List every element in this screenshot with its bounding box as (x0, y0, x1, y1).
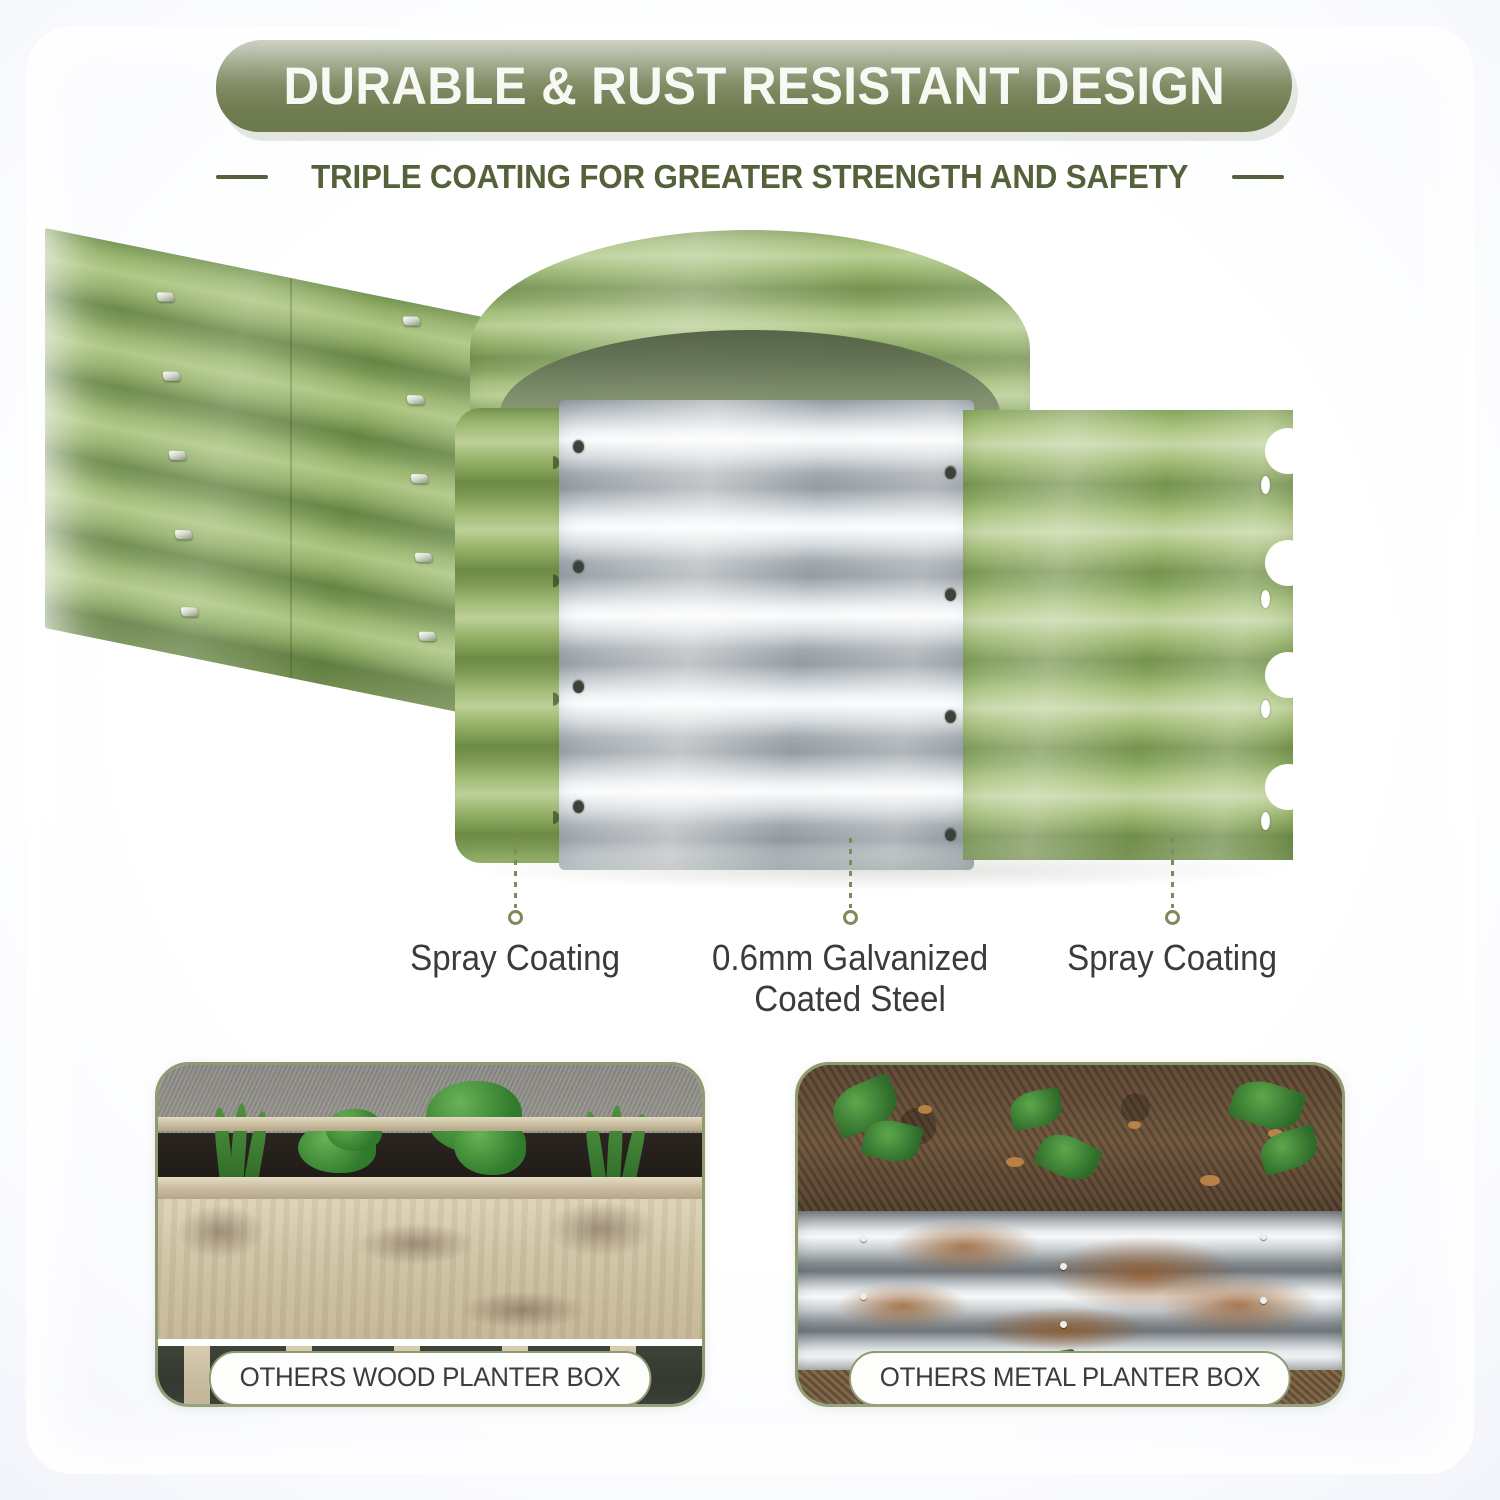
rivet-icon (1060, 1263, 1067, 1270)
wood-leg (184, 1346, 210, 1404)
leader-line (514, 838, 517, 908)
leader-line (1171, 838, 1174, 908)
punch-hole-icon (573, 800, 584, 813)
bed-front-band (455, 400, 1295, 900)
callout-spray-coating-right: Spray Coating (1055, 838, 1290, 978)
punch-hole-icon (573, 680, 584, 693)
mulch-speck (1128, 1121, 1141, 1129)
scallop-cut-icon (1265, 540, 1311, 586)
dash-right-icon (1232, 175, 1284, 179)
callout-label: Spray Coating (1068, 937, 1278, 978)
comparison-label-metal: OTHERS METAL PLANTER BOX (849, 1351, 1291, 1406)
callout-label: Spray Coating (411, 937, 621, 978)
rivet-icon (406, 395, 424, 405)
wood-stain (546, 1201, 656, 1257)
punch-hole-icon (945, 466, 956, 479)
page-subtitle: TRIPLE COATING FOR GREATER STRENGTH AND … (311, 158, 1188, 196)
punch-hole-icon (945, 710, 956, 723)
callout-spray-coating-left: Spray Coating (398, 838, 633, 978)
rivet-icon (860, 1293, 867, 1300)
wood-stain (176, 1205, 266, 1259)
spray-coating-segment-right (963, 410, 1293, 860)
wood-front-face (158, 1199, 702, 1339)
punch-hole-icon (573, 560, 584, 573)
mulch-speck (1006, 1157, 1024, 1167)
rivet-icon (174, 530, 192, 540)
wood-top-rail (158, 1177, 702, 1199)
steel-gloss (559, 400, 974, 870)
mulch-speck (1200, 1175, 1220, 1186)
rivet-icon (1260, 1297, 1267, 1304)
rivet-icon (180, 607, 198, 617)
rivet-icon (414, 553, 432, 563)
wood-top-rail (158, 1117, 702, 1131)
scallop-cut-icon (1265, 652, 1311, 698)
rust-stain (1158, 1275, 1318, 1335)
page-title: DURABLE & RUST RESISTANT DESIGN (283, 60, 1225, 113)
rust-stain (978, 1307, 1148, 1351)
punch-hole-icon (573, 440, 584, 453)
rivet-icon (860, 1235, 867, 1242)
panel-seam (290, 278, 292, 678)
dash-left-icon (216, 175, 268, 179)
galvanized-steel-segment (559, 400, 974, 870)
leader-dot-icon (1165, 910, 1180, 925)
rivet-icon (418, 632, 436, 642)
header-banner: DURABLE & RUST RESISTANT DESIGN (216, 40, 1292, 132)
punch-hole-icon (1261, 812, 1270, 830)
rivet-icon (156, 292, 174, 302)
rivet-icon (410, 474, 428, 484)
spray-coating-segment-left (455, 408, 575, 863)
rivet-icon (162, 371, 180, 381)
leader-dot-icon (843, 910, 858, 925)
rivet-icon (168, 451, 186, 461)
comparison-label-wood: OTHERS WOOD PLANTER BOX (209, 1351, 651, 1406)
mulch-speck (918, 1105, 932, 1114)
infographic-page: DURABLE & RUST RESISTANT DESIGN TRIPLE C… (0, 0, 1500, 1500)
wood-stain (356, 1223, 476, 1265)
panel-gloss (963, 410, 1293, 860)
rust-stain (838, 1283, 968, 1329)
punch-hole-icon (1261, 476, 1270, 494)
product-illustration (0, 220, 1500, 910)
leader-line (849, 838, 852, 908)
leader-dot-icon (508, 910, 523, 925)
rivet-icon (402, 316, 420, 326)
subtitle-row: TRIPLE COATING FOR GREATER STRENGTH AND … (0, 158, 1500, 196)
rust-stain (890, 1221, 1040, 1273)
callout-galvanized-steel: 0.6mm Galvanized Coated Steel (690, 838, 1010, 1019)
scallop-cut-icon (1265, 764, 1311, 810)
rivet-icon (1260, 1233, 1267, 1240)
wood-stain (458, 1291, 588, 1329)
punch-hole-icon (1261, 700, 1270, 718)
comparison-card-metal[interactable]: OTHERS METAL PLANTER BOX (795, 1062, 1345, 1407)
punch-hole-icon (1261, 590, 1270, 608)
callout-label: 0.6mm Galvanized Coated Steel (712, 937, 988, 1019)
rivet-icon (1060, 1321, 1067, 1328)
comparison-card-wood[interactable]: OTHERS WOOD PLANTER BOX (155, 1062, 705, 1407)
punch-hole-icon (945, 588, 956, 601)
scallop-cut-icon (1265, 428, 1311, 474)
